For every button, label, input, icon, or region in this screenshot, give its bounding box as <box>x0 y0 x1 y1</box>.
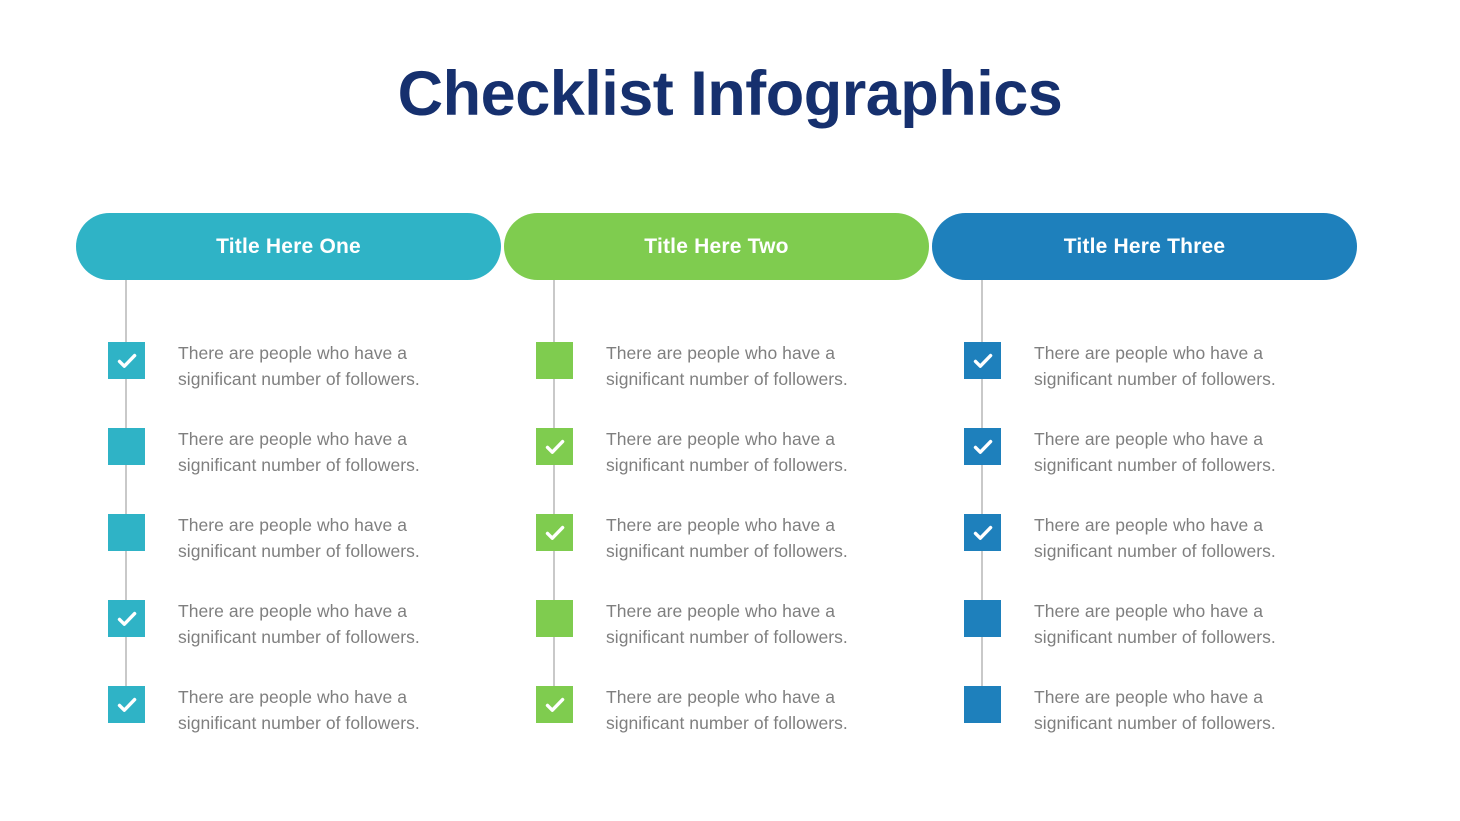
list-item: There are people who have a significant … <box>932 684 1357 770</box>
column-header-label: Title Here One <box>216 235 361 259</box>
checkbox-checked[interactable] <box>108 686 145 723</box>
column-header-pill-3[interactable]: Title Here Three <box>932 213 1357 280</box>
checkbox-unchecked[interactable] <box>536 342 573 379</box>
checklist-column-2: Title Here TwoThere are people who have … <box>504 213 929 753</box>
checklist-column-1: Title Here OneThere are people who have … <box>76 213 501 753</box>
list-item: There are people who have a significant … <box>932 340 1357 426</box>
list-item-text: There are people who have a significant … <box>606 340 906 392</box>
list-item-text: There are people who have a significant … <box>178 426 478 478</box>
list-item: There are people who have a significant … <box>76 426 501 512</box>
list-item-text: There are people who have a significant … <box>1034 684 1334 736</box>
list-item: There are people who have a significant … <box>504 512 929 598</box>
list-item: There are people who have a significant … <box>76 684 501 770</box>
list-item-text: There are people who have a significant … <box>1034 598 1334 650</box>
list-item: There are people who have a significant … <box>932 598 1357 684</box>
list-item-text: There are people who have a significant … <box>178 684 478 736</box>
check-icon <box>115 349 139 373</box>
checkbox-checked[interactable] <box>536 428 573 465</box>
list-item-text: There are people who have a significant … <box>606 512 906 564</box>
list-item-text: There are people who have a significant … <box>1034 512 1334 564</box>
check-icon <box>115 693 139 717</box>
list-item: There are people who have a significant … <box>932 426 1357 512</box>
list-item-text: There are people who have a significant … <box>606 598 906 650</box>
check-icon <box>543 693 567 717</box>
list-item: There are people who have a significant … <box>504 598 929 684</box>
column-header-label: Title Here Three <box>1064 235 1226 259</box>
checkbox-checked[interactable] <box>964 342 1001 379</box>
infographic-slide: Checklist Infographics Title Here OneThe… <box>0 0 1460 821</box>
list-item: There are people who have a significant … <box>504 684 929 770</box>
list-item: There are people who have a significant … <box>76 598 501 684</box>
list-item-text: There are people who have a significant … <box>1034 340 1334 392</box>
checkbox-unchecked[interactable] <box>964 686 1001 723</box>
checkbox-checked[interactable] <box>964 428 1001 465</box>
checkbox-unchecked[interactable] <box>536 600 573 637</box>
checkbox-checked[interactable] <box>536 514 573 551</box>
check-icon <box>971 521 995 545</box>
list-item: There are people who have a significant … <box>932 512 1357 598</box>
list-item-text: There are people who have a significant … <box>178 598 478 650</box>
checkbox-unchecked[interactable] <box>108 428 145 465</box>
checkbox-checked[interactable] <box>536 686 573 723</box>
check-icon <box>971 435 995 459</box>
checklist-items: There are people who have a significant … <box>76 340 501 770</box>
checklist-column-3: Title Here ThreeThere are people who hav… <box>932 213 1357 753</box>
check-icon <box>971 349 995 373</box>
checkbox-unchecked[interactable] <box>964 600 1001 637</box>
column-header-pill-1[interactable]: Title Here One <box>76 213 501 280</box>
check-icon <box>543 521 567 545</box>
checkbox-checked[interactable] <box>108 600 145 637</box>
checklist-items: There are people who have a significant … <box>932 340 1357 770</box>
list-item-text: There are people who have a significant … <box>1034 426 1334 478</box>
page-title: Checklist Infographics <box>0 58 1460 130</box>
checkbox-checked[interactable] <box>964 514 1001 551</box>
list-item: There are people who have a significant … <box>76 340 501 426</box>
list-item-text: There are people who have a significant … <box>606 426 906 478</box>
check-icon <box>543 435 567 459</box>
column-header-pill-2[interactable]: Title Here Two <box>504 213 929 280</box>
list-item-text: There are people who have a significant … <box>178 512 478 564</box>
list-item: There are people who have a significant … <box>504 426 929 512</box>
column-header-label: Title Here Two <box>644 235 788 259</box>
list-item-text: There are people who have a significant … <box>178 340 478 392</box>
checkbox-unchecked[interactable] <box>108 514 145 551</box>
checkbox-checked[interactable] <box>108 342 145 379</box>
list-item: There are people who have a significant … <box>504 340 929 426</box>
check-icon <box>115 607 139 631</box>
list-item-text: There are people who have a significant … <box>606 684 906 736</box>
list-item: There are people who have a significant … <box>76 512 501 598</box>
checklist-items: There are people who have a significant … <box>504 340 929 770</box>
checklist-columns: Title Here OneThere are people who have … <box>76 213 1356 753</box>
